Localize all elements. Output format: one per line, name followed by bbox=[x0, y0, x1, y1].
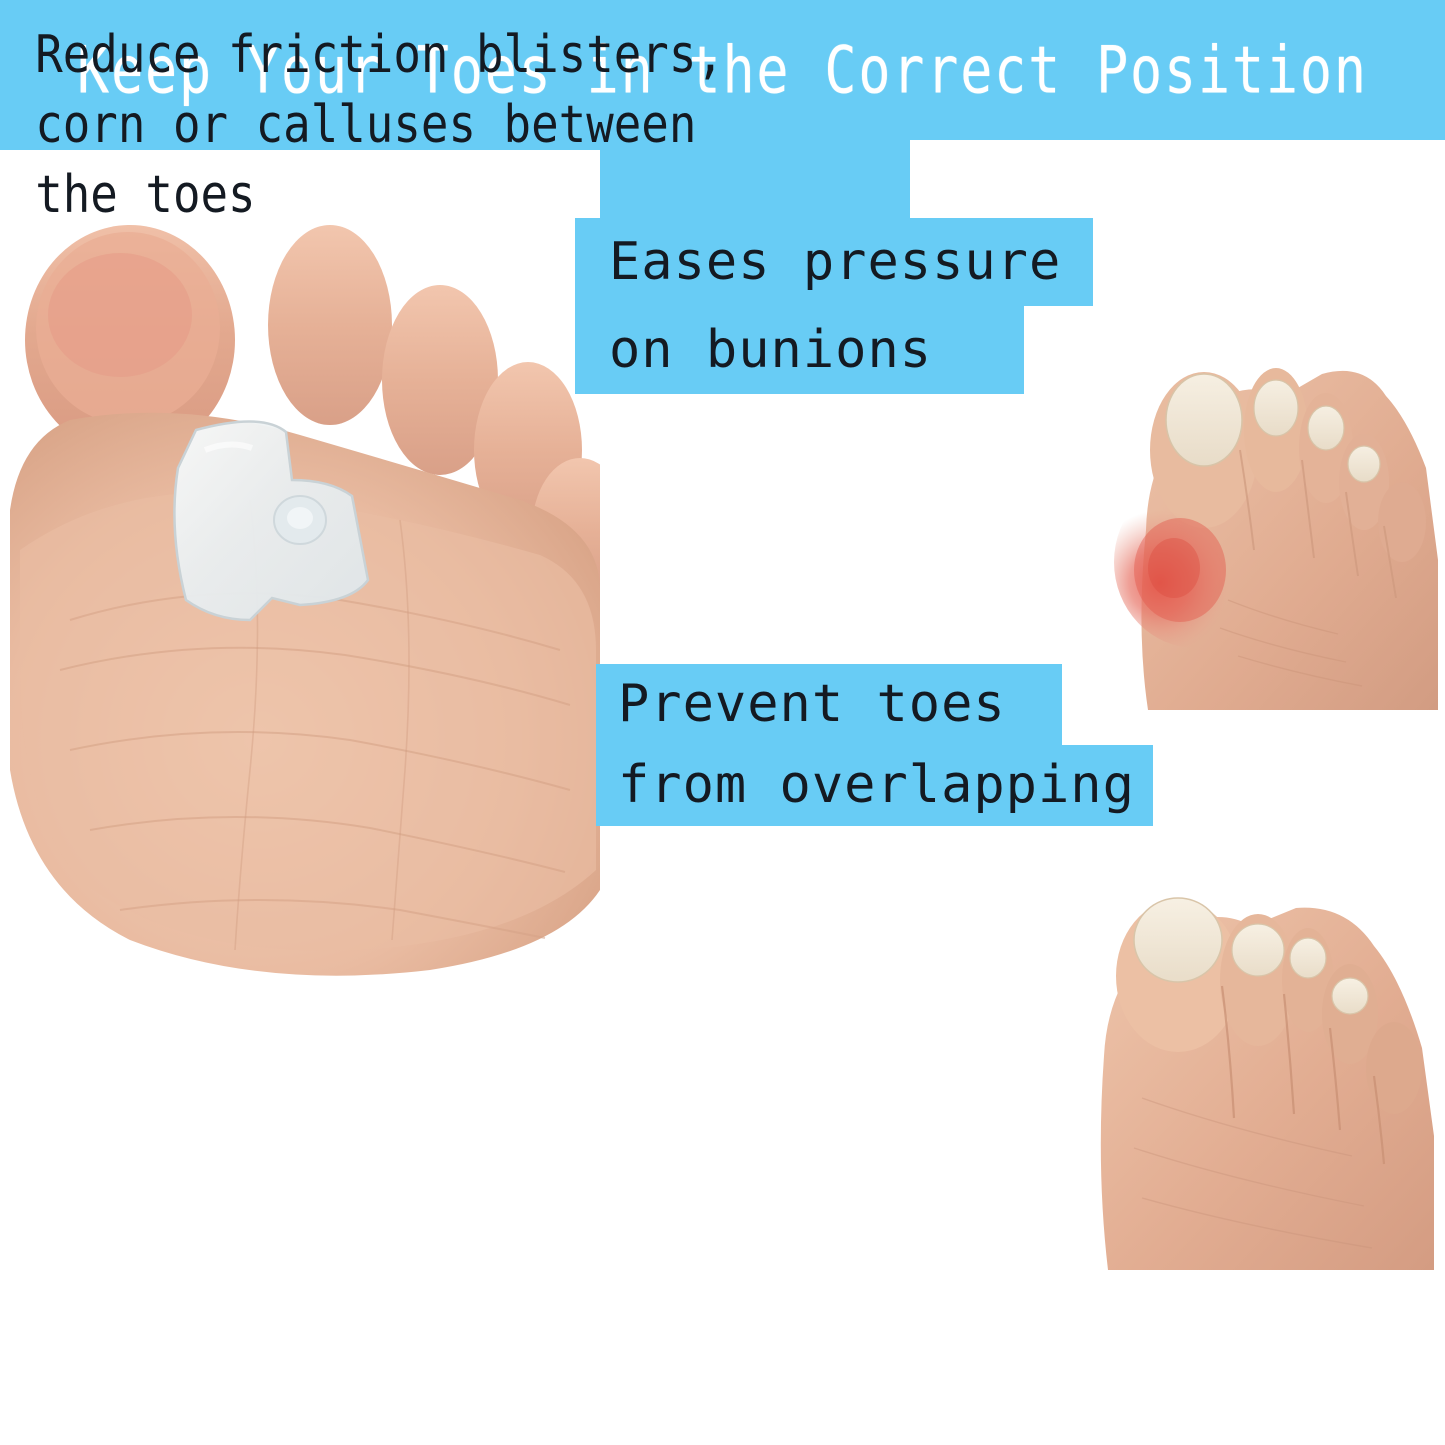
callout-line: Eases pressure bbox=[575, 218, 1093, 306]
callout-prevent-overlapping: Prevent toes from overlapping bbox=[596, 664, 1153, 826]
photo-sole-with-separator bbox=[0, 150, 600, 1020]
callout-line: corn or calluses between bbox=[0, 90, 801, 160]
callout-line: the toes bbox=[0, 160, 801, 230]
infographic-page: Keep Your Toes in the Correct Position bbox=[0, 0, 1445, 1445]
photo-overlapping-toes-foot bbox=[1082, 868, 1442, 1270]
callout-line: Reduce friction blisters, bbox=[0, 20, 801, 90]
callout-line: on bunions bbox=[575, 306, 1024, 394]
callout-reduce-friction: Reduce friction blisters, corn or callus… bbox=[0, 0, 910, 236]
callout-eases-pressure: Eases pressure on bunions bbox=[575, 218, 1093, 394]
callout-line: Prevent toes bbox=[596, 664, 1062, 745]
photo-bunion-foot bbox=[1108, 300, 1438, 710]
callout-line: from overlapping bbox=[596, 745, 1153, 826]
